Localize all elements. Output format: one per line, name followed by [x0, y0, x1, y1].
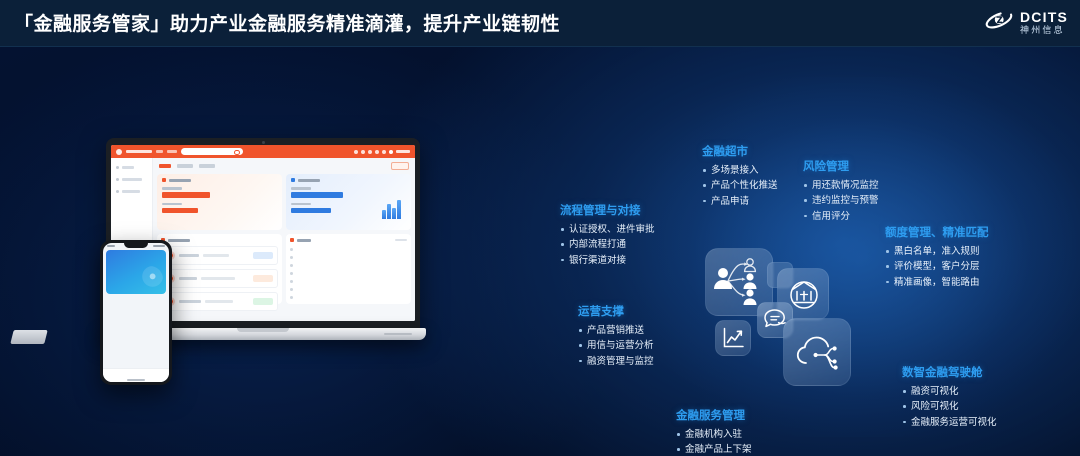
news-list-header [290, 238, 407, 242]
kpi-ring-icon [253, 199, 275, 221]
list-card-title [297, 239, 311, 242]
view-more-link[interactable] [395, 239, 407, 242]
brand-logo: DCITS 神州信息 [984, 8, 1068, 37]
laptop-shelf-accent [10, 330, 47, 344]
cloud-tech-icon [783, 318, 851, 386]
kpi-value [162, 192, 210, 198]
phone-hero-banner [106, 250, 166, 294]
sidebar-item[interactable] [111, 190, 152, 193]
list-item[interactable] [161, 269, 278, 288]
kpi-label [162, 187, 182, 190]
bullet-icon [290, 296, 293, 299]
list-item[interactable] [290, 270, 407, 275]
kpi-value [291, 208, 331, 214]
callout-list: 产品营销推送 用信与运营分析 融资管理与监控 [578, 323, 654, 369]
brand-name-cn: 神州信息 [1020, 26, 1068, 35]
callout-risk-management: 风险管理 用还款情况监控 违约监控与预警 信用评分 [803, 158, 879, 224]
list-item-title [179, 254, 199, 257]
callout-list-item: 违约监控与预警 [803, 193, 879, 208]
settings-icon[interactable] [368, 150, 372, 154]
phone-screen [103, 243, 169, 382]
callout-list-item: 评价模型，客户分层 [885, 259, 989, 274]
callout-list-item: 产品申请 [702, 194, 778, 209]
callout-list: 认证授权、进件审批 内部流程打通 银行渠道对接 [560, 222, 655, 268]
dashboard-kpi-cards [157, 174, 411, 230]
callout-financial-supermarket: 金融超市 多场景接入 产品个性化推送 产品申请 [702, 143, 778, 209]
list-item[interactable] [290, 246, 407, 251]
callout-list-item: 金融服务运营可视化 [902, 415, 997, 430]
callout-list-item: 多场景接入 [702, 163, 778, 178]
kpi-card-title-text [298, 179, 320, 182]
laptop-foot [384, 333, 412, 335]
status-badge [253, 252, 273, 259]
process-list-header [161, 238, 278, 242]
bullet-icon [290, 272, 293, 275]
kpi-card-title [291, 178, 406, 182]
callout-list-item: 产品营销推送 [578, 323, 654, 338]
kpi-card-title-text [169, 179, 191, 182]
kpi-label [162, 203, 182, 206]
phone-app-mockup [100, 240, 172, 385]
dashboard-topbar-actions [354, 150, 410, 154]
news-list-card [286, 234, 411, 304]
bullet-icon [290, 248, 293, 251]
page-title: 「金融服务管家」助力产业金融服务精准滴灌，提升产业链韧性 [14, 9, 560, 36]
message-icon[interactable] [382, 150, 386, 154]
bullet-icon [290, 280, 293, 283]
callout-title: 数智金融驾驶舱 [902, 364, 997, 380]
callout-list: 黑白名单，准入规则 评价模型，客户分层 精准画像，智能路由 [885, 244, 989, 290]
callout-list: 金融机构入驻 金融产品上下架 融/投/保后服务 [676, 427, 752, 456]
sidebar-item-label [122, 166, 134, 169]
dashboard-main [153, 158, 415, 321]
laptop-trackpad-notch [237, 328, 289, 332]
callout-list-item: 融资可视化 [902, 384, 997, 399]
status-badge [253, 298, 273, 305]
sidebar-item[interactable] [111, 178, 152, 181]
help-icon[interactable] [361, 150, 365, 154]
list-item[interactable] [290, 262, 407, 267]
callout-title: 金融服务管理 [676, 407, 752, 423]
phone-status-icons [153, 245, 165, 247]
callout-list-item: 信用评分 [803, 209, 879, 224]
phone-section [103, 300, 169, 307]
list-item[interactable] [161, 292, 278, 311]
dashboard-username [396, 150, 410, 153]
list-item-sub [203, 254, 229, 257]
dashboard-search-input[interactable] [181, 148, 243, 155]
bar-chart-icon [382, 199, 404, 221]
list-item[interactable] [290, 294, 407, 299]
callout-list-item: 用信与运营分析 [578, 338, 654, 353]
avatar[interactable] [389, 150, 393, 154]
phone-banner-graphic [137, 266, 163, 292]
list-item-sub [205, 300, 233, 303]
callout-list-item: 金融产品上下架 [676, 442, 752, 456]
bullet-icon [290, 264, 293, 267]
swoosh-orbit-logo-icon [984, 8, 1014, 37]
callout-list-item: 风险可视化 [902, 399, 997, 414]
kpi-card-icon [162, 178, 166, 182]
laptop-camera-icon [262, 141, 265, 144]
slide-header: 「金融服务管家」助力产业金融服务精准滴灌，提升产业链韧性 DCITS 神州信息 [0, 0, 1080, 47]
sidebar-item-label [122, 178, 142, 181]
callout-operation-support: 运营支撑 产品营销推送 用信与运营分析 融资管理与监控 [578, 303, 654, 369]
callout-financial-service-management: 金融服务管理 金融机构入驻 金融产品上下架 融/投/保后服务 [676, 407, 752, 456]
list-card-title [168, 239, 190, 242]
callout-title: 流程管理与对接 [560, 202, 655, 218]
callout-list-item: 认证授权、进件审批 [560, 222, 655, 237]
device-mockups [100, 132, 460, 402]
phone-home-indicator [127, 379, 145, 381]
tab-overview[interactable] [159, 164, 171, 168]
list-item-title [179, 277, 197, 280]
list-card-icon [290, 238, 294, 242]
callout-list-item: 融资管理与监控 [578, 354, 654, 369]
phone-section [103, 307, 169, 310]
brand-text: DCITS 神州信息 [1020, 10, 1068, 35]
dashboard-menu-item [167, 150, 177, 153]
icon-cluster [701, 240, 861, 400]
callout-title: 运营支撑 [578, 303, 654, 319]
dashboard-action-button[interactable] [391, 162, 409, 170]
callout-list-item: 精准画像，智能路由 [885, 275, 989, 290]
growth-chart-icon [715, 320, 751, 356]
list-item[interactable] [290, 278, 407, 283]
kpi-value [162, 208, 198, 214]
callout-list-item: 用还款情况监控 [803, 178, 879, 193]
list-item[interactable] [161, 246, 278, 265]
status-badge [253, 275, 273, 282]
brand-name-en: DCITS [1020, 10, 1068, 24]
callout-list-item: 产品个性化推送 [702, 178, 778, 193]
callout-list-item: 金融机构入驻 [676, 427, 752, 442]
sidebar-item-icon [116, 166, 119, 169]
kpi-card-title [162, 178, 277, 182]
bullet-icon [290, 256, 293, 259]
callout-digital-cockpit: 数智金融驾驶舱 融资可视化 风险可视化 金融服务运营可视化 [902, 364, 997, 430]
list-item-title [179, 300, 201, 303]
sidebar-item[interactable] [111, 166, 152, 169]
kpi-label [291, 203, 311, 206]
dashboard-tabs [157, 162, 411, 174]
callout-list: 融资可视化 风险可视化 金融服务运营可视化 [902, 384, 997, 430]
callout-list-item: 黑白名单，准入规则 [885, 244, 989, 259]
callout-quota-management: 额度管理、精准匹配 黑白名单，准入规则 评价模型，客户分层 精准画像，智能路由 [885, 224, 989, 290]
kpi-value [291, 192, 343, 198]
callout-title: 额度管理、精准匹配 [885, 224, 989, 240]
phone-notch [124, 243, 148, 248]
callout-list: 多场景接入 产品个性化推送 产品申请 [702, 163, 778, 209]
list-item[interactable] [290, 254, 407, 259]
callout-title: 金融超市 [702, 143, 778, 159]
list-item-sub [201, 277, 235, 280]
callout-list-item: 内部流程打通 [560, 237, 655, 252]
dashboard-brand-label [126, 150, 152, 153]
slide-root: 「金融服务管家」助力产业金融服务精准滴灌，提升产业链韧性 DCITS 神州信息 [0, 0, 1080, 456]
apps-icon[interactable] [375, 150, 379, 154]
callout-flow-management: 流程管理与对接 认证授权、进件审批 内部流程打通 银行渠道对接 [560, 202, 655, 268]
bullet-icon [290, 288, 293, 291]
callout-list: 用还款情况监控 违约监控与预警 信用评分 [803, 178, 879, 224]
bell-icon[interactable] [354, 150, 358, 154]
tab-third[interactable] [199, 164, 215, 168]
dashboard-logo-icon [116, 149, 122, 155]
dashboard-menu-item [156, 150, 163, 153]
kpi-card-financing [157, 174, 282, 230]
slide-stage: 流程管理与对接 认证授权、进件审批 内部流程打通 银行渠道对接 金融超市 多场景… [0, 47, 1080, 456]
kpi-card-credit [286, 174, 411, 230]
callout-list-item: 银行渠道对接 [560, 253, 655, 268]
sidebar-item-icon [116, 190, 119, 193]
dashboard-lists [157, 234, 411, 304]
dashboard-topbar [111, 145, 415, 158]
sidebar-item-label [122, 190, 140, 193]
kpi-card-icon [291, 178, 295, 182]
tab-second[interactable] [177, 164, 193, 168]
process-list-card [157, 234, 282, 304]
list-item[interactable] [290, 286, 407, 291]
phone-clock [107, 245, 115, 247]
kpi-label [291, 187, 311, 190]
sidebar-item-icon [116, 178, 119, 181]
callout-title: 风险管理 [803, 158, 879, 174]
